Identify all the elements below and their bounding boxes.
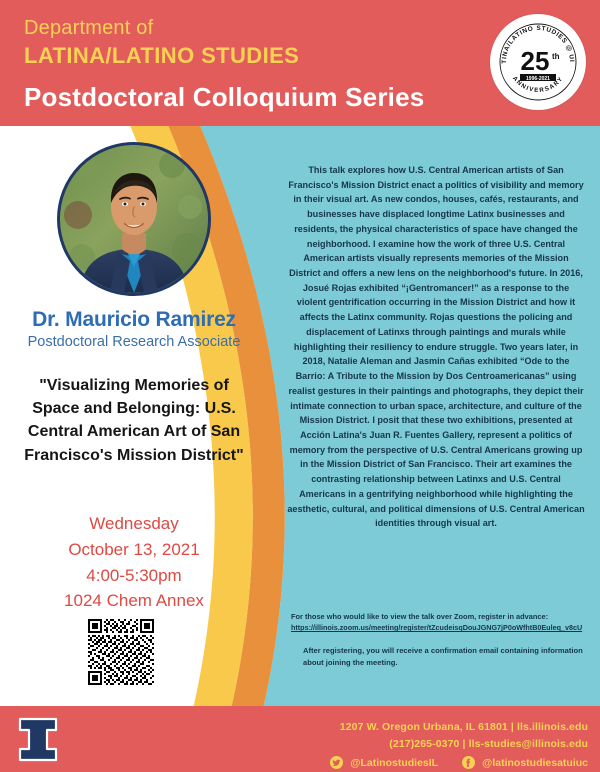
footer-social: @LatinostudiesIL @latinostudiesatuiuc xyxy=(330,756,588,769)
twitter-handle[interactable]: @LatinostudiesIL xyxy=(350,757,438,769)
footer-line-address: 1207 W. Oregon Urbana, IL 61801 | lls.il… xyxy=(340,719,588,736)
event-date: October 13, 2021 xyxy=(14,537,254,563)
zoom-register-label: For those who would like to view the tal… xyxy=(291,612,548,621)
series-title: Postdoctoral Colloquium Series xyxy=(24,82,424,113)
event-day: Wednesday xyxy=(14,511,254,537)
footer-separator-2: | xyxy=(463,738,466,750)
event-location: 1024 Chem Annex xyxy=(14,588,254,614)
illinois-logo-icon xyxy=(18,717,58,762)
svg-text:th: th xyxy=(552,52,560,61)
department-label: Department of xyxy=(24,17,153,40)
speaker-name: Dr. Mauricio Ramirez xyxy=(0,308,268,332)
facebook-icon[interactable] xyxy=(462,756,475,769)
svg-text:25: 25 xyxy=(521,46,550,76)
zoom-after-note: After registering, you will receive a co… xyxy=(303,645,587,669)
anniversary-seal-icon: LATINA/LATINO STUDIES @ UIUC ANNIVERSARY… xyxy=(490,14,586,110)
footer-separator-1: | xyxy=(511,721,514,733)
event-time: 4:00-5:30pm xyxy=(14,563,254,589)
footer-email[interactable]: lls-studies@illinois.edu xyxy=(469,738,588,750)
footer-address: 1207 W. Oregon Urbana, IL 61801 xyxy=(340,721,508,733)
left-column: Dr. Mauricio Ramirez Postdoctoral Resear… xyxy=(0,126,268,712)
talk-title: "Visualizing Memories of Space and Belon… xyxy=(14,374,254,467)
poster-footer: 1207 W. Oregon Urbana, IL 61801 | lls.il… xyxy=(0,706,600,772)
zoom-register-link[interactable]: https://illinois.zoom.us/meeting/registe… xyxy=(291,623,587,634)
footer-contact: 1207 W. Oregon Urbana, IL 61801 | lls.il… xyxy=(340,719,588,753)
speaker-photo xyxy=(60,145,208,293)
facebook-handle[interactable]: @latinostudiesatuiuc xyxy=(482,757,588,769)
poster-header: Department of LATINA/LATINO STUDIES Post… xyxy=(0,0,600,126)
zoom-register-note: For those who would like to view the tal… xyxy=(291,611,587,634)
qr-code-icon[interactable] xyxy=(88,619,154,685)
speaker-role: Postdoctoral Research Associate xyxy=(0,334,268,350)
event-details: Wednesday October 13, 2021 4:00-5:30pm 1… xyxy=(14,511,254,614)
footer-line-contact: (217)265-0370 | lls-studies@illinois.edu xyxy=(340,736,588,753)
footer-website[interactable]: lls.illinois.edu xyxy=(517,721,588,733)
abstract-text: This talk explores how U.S. Central Amer… xyxy=(287,163,585,531)
svg-text:1996-2021: 1996-2021 xyxy=(526,76,550,82)
avatar xyxy=(57,142,211,296)
unit-name: LATINA/LATINO STUDIES xyxy=(24,43,299,69)
footer-phone: (217)265-0370 xyxy=(389,738,459,750)
poster-canvas: Department of LATINA/LATINO STUDIES Post… xyxy=(0,0,600,772)
twitter-icon[interactable] xyxy=(330,756,343,769)
